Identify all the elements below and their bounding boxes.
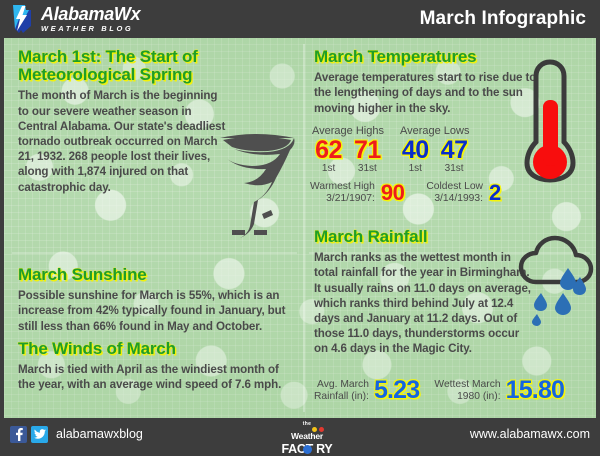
section-body: March ranks as the wettest month in tota… (314, 250, 536, 356)
high-stat: 62 1st (315, 138, 342, 174)
infographic-page: AlabamaWx WEATHER BLOG March Infographic… (0, 0, 600, 450)
high-day: 1st (315, 164, 342, 174)
coldest-low-value: 2 (489, 182, 501, 204)
coldest-low-label: Coldest Low 3/14/1993: (426, 181, 483, 205)
wettest-march-value: 15.80 (506, 378, 565, 403)
wf-factory-label: FACT RY (272, 443, 342, 456)
red-dot-icon (319, 427, 324, 432)
tornado-icon (210, 130, 302, 242)
section-title: The Winds of March (18, 340, 298, 358)
wettest-march-label: Wettest March 1980 (in): (434, 379, 500, 403)
facebook-icon[interactable] (10, 426, 27, 443)
page-footer: alabamawxblog the Weather FACT RY www.al… (0, 418, 600, 450)
section-body: Possible sunshine for March is 55%, whic… (18, 288, 288, 334)
average-lows-group: Average Lows 40 1st 47 31st (400, 126, 470, 174)
warmest-high-value: 90 (381, 182, 404, 204)
page-header: AlabamaWx WEATHER BLOG March Infographic (0, 0, 600, 38)
low-day: 1st (402, 164, 429, 174)
high-value: 71 (354, 138, 381, 163)
warmest-high-label: Warmest High 3/21/1907: (310, 181, 375, 205)
avg-rainfall-value: 5.23 (374, 378, 419, 403)
section-body: March is tied with April as the windiest… (18, 362, 290, 392)
warmest-high-row: Warmest High 3/21/1907: 90 Coldest Low 3… (310, 181, 501, 205)
section-winds-of-march: The Winds of March March is tied with Ap… (18, 340, 298, 393)
wf-weather-label: Weather (291, 431, 323, 441)
column-divider (303, 44, 305, 412)
low-value: 47 (441, 138, 468, 163)
yellow-dot-icon (312, 427, 317, 432)
average-highs-group: Average Highs 62 1st 71 31st (312, 126, 384, 174)
brand-subtitle: WEATHER BLOG (41, 25, 140, 33)
low-value: 40 (402, 138, 429, 163)
avg-rainfall-label: Avg. March Rainfall (in): (314, 379, 369, 403)
twitter-icon[interactable] (31, 426, 48, 443)
page-title: March Infographic (420, 8, 590, 30)
low-stat: 40 1st (402, 138, 429, 174)
high-stat: 71 31st (354, 138, 381, 174)
section-title: March 1st: The Start of Meteorological S… (18, 48, 280, 84)
rain-cloud-icon (518, 234, 594, 326)
wf-the-label: the (272, 422, 342, 427)
infographic-body: March 1st: The Start of Meteorological S… (4, 38, 596, 418)
alabama-lightning-logo-icon (10, 4, 34, 34)
brand-name: AlabamaWx (41, 5, 140, 23)
high-value: 62 (315, 138, 342, 163)
section-body: The month of March is the beginning to o… (18, 88, 230, 194)
brand-text: AlabamaWx WEATHER BLOG (41, 5, 140, 33)
weather-factory-logo: the Weather FACT RY (272, 422, 342, 456)
section-title: March Sunshine (18, 266, 298, 284)
temperature-stats: Average Highs 62 1st 71 31st (312, 126, 469, 174)
social-handle[interactable]: alabamawxblog (56, 427, 143, 441)
website-url[interactable]: www.alabamawx.com (470, 427, 590, 441)
low-stat: 47 31st (441, 138, 468, 174)
section-march-sunshine: March Sunshine Possible sunshine for Mar… (18, 266, 298, 334)
social-links[interactable] (10, 426, 48, 443)
high-day: 31st (354, 164, 381, 174)
rainfall-stats-row: Avg. March Rainfall (in): 5.23 Wettest M… (314, 378, 564, 403)
left-section-divider (12, 252, 297, 254)
section-body: Average temperatures start to rise due t… (314, 70, 542, 116)
low-day: 31st (441, 164, 468, 174)
brand-block: AlabamaWx WEATHER BLOG (10, 4, 140, 34)
thermometer-icon (522, 56, 578, 184)
